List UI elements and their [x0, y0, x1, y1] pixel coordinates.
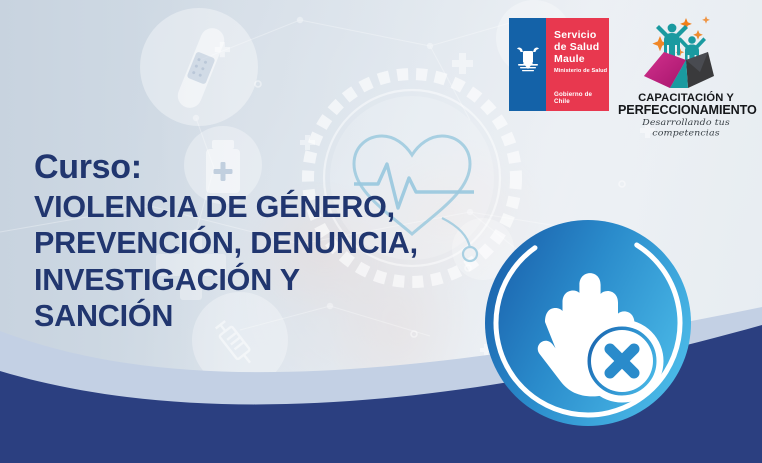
logo-government-text: Gobierno de Chile [554, 91, 609, 105]
course-title-line-1: VIOLENCIA DE GÉNERO, [34, 189, 486, 225]
logo-blue-panel [509, 18, 546, 111]
logo-capacitacion-line2: PERFECCIONAMIENTO [618, 104, 754, 117]
logo-servicio-salud-maule: Servicio de Salud Maule Ministerio de Sa… [509, 18, 609, 111]
sparkle-orange-icon [652, 16, 710, 56]
logo-line-maule: Maule [554, 53, 607, 65]
logo-capacitacion-perfeccionamiento: CAPACITACIÓN Y PERFECCIONAMIENTO Desarro… [618, 8, 754, 130]
open-book-with-figures-icon [636, 10, 736, 92]
course-banner: Servicio de Salud Maule Ministerio de Sa… [0, 0, 762, 463]
logo-red-panel: Servicio de Salud Maule Ministerio de Sa… [546, 18, 609, 111]
course-title-line-4: SANCIÓN [34, 298, 486, 334]
logo-salud-text-block: Servicio de Salud Maule Ministerio de Sa… [554, 29, 607, 74]
logo-ministry-text: Ministerio de Salud [554, 68, 607, 74]
course-eyebrow: Curso: [34, 150, 486, 185]
chile-coat-of-arms-icon [513, 44, 543, 74]
logo-line-servicio: Servicio [554, 29, 607, 41]
stop-hand-with-x-icon [483, 218, 693, 428]
course-title: VIOLENCIA DE GÉNERO, PREVENCIÓN, DENUNCI… [34, 189, 486, 335]
logo-capacitacion-tagline: Desarrollando tus competencias [618, 118, 754, 138]
logo-line-de-salud: de Salud [554, 41, 607, 53]
book-icon [644, 52, 714, 88]
course-title-line-2: PREVENCIÓN, DENUNCIA, [34, 225, 486, 261]
x-badge-icon [584, 323, 660, 399]
course-title-line-3: INVESTIGACIÓN Y [34, 262, 486, 298]
headline-block: Curso: VIOLENCIA DE GÉNERO, PREVENCIÓN, … [34, 150, 486, 334]
